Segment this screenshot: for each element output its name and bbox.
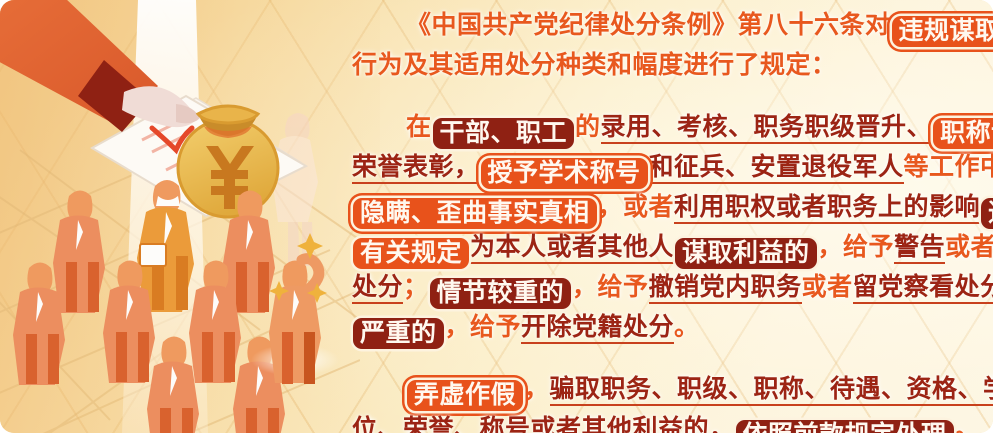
paragraph-intro: 《中国共产党纪律处分条例》第八十六条对违规谋取人事利益 行为及其适用处分种类和幅… [352,6,993,86]
text-run-underlined: 录用、考核、职务职级晋升、 [601,114,933,144]
highlight-chip-relevant-rules: 有关规定 [353,238,469,269]
text-run-plain: 或者 [802,274,853,301]
text-run-plain: 。 [674,314,700,341]
text-run-plain: ， [524,376,550,403]
text-run-plain: 。 [955,416,981,433]
text-run-plain: 在 [406,114,432,141]
highlighted-official-figure [269,259,321,384]
article-text-column: 《中国共产党纪律处分条例》第八十六条对违规谋取人事利益 行为及其适用处分种类和幅… [352,6,993,427]
text-run-underlined: 警告 [894,234,945,264]
text-run-underlined: 利用职权或者职务上的影响 [674,194,980,224]
highlight-chip-handle-per-previous-clause: 依照前款规定处理 [736,420,954,433]
text-run-underlined: 留党察看处分 [853,274,993,304]
text-run-underlined: 撤销党内职务 [649,274,802,304]
highlight-chip-title-appointment: 职称评聘 [933,118,993,149]
paragraph-clause-one: 在干部、职工的录用、考核、职务职级晋升、职称评聘、 荣誉表彰，授予学术称号和征兵… [352,108,993,348]
paragraph-clause-two: 弄虚作假，骗取职务、职级、职称、待遇、资格、学历、学 位、荣誉、称号或者其他利益… [352,370,993,433]
highlight-chip-conceal-distort: 隐瞒、歪曲事实真相 [353,198,597,229]
text-run-plain: ； [403,274,429,301]
text-run-plain: ，给予 [445,314,522,341]
text-line: 行为及其适用处分种类和幅度进行了规定： [352,46,993,86]
text-line: 弄虚作假，骗取职务、职级、职称、待遇、资格、学历、学 [352,370,993,410]
text-run-plain: 的 [575,114,601,141]
text-run-underlined: 开除党籍处分 [521,314,674,344]
text-run-plain: ，给予 [572,274,649,301]
text-run-underlined: 荣誉表彰， [352,154,480,184]
highlight-chip-cadres-staff: 干部、职工 [433,118,575,149]
text-line: 荣誉表彰，授予学术称号和征兵、安置退役军人等工作中， [352,148,993,188]
text-line: 《中国共产党纪律处分条例》第八十六条对违规谋取人事利益 [352,6,993,46]
text-run-underlined: 位、荣誉、称号或者其他利益的， [352,416,735,433]
highlight-chip-grave: 严重的 [353,318,444,349]
paragraph-spacer [352,348,993,370]
text-run-underlined: 处分 [352,274,403,304]
highlight-chip-violate: 违反 [981,198,993,229]
text-line: 位、荣誉、称号或者其他利益的，依照前款规定处理。 [352,410,993,433]
text-run-underlined: 骗取职务、职级、职称、待遇、资格、学历、学 [550,376,993,406]
text-line: 严重的，给予开除党籍处分。 [352,308,993,348]
text-run-underlined: 和征兵、安置退役军人 [649,154,904,184]
text-line: 隐瞒、歪曲事实真相，或者利用职权或者职务上的影响违反 [352,188,993,228]
text-line: 在干部、职工的录用、考核、职务职级晋升、职称评聘、 [352,108,993,148]
illustration-hand-offering-document-with-money-bag [0,0,360,433]
highlight-chip-academic-title: 授予学术称号 [481,158,648,189]
paragraph-spacer [352,86,993,108]
text-line: 有关规定为本人或者其他人谋取利益的，给予警告或者严重警告 [352,228,993,268]
text-run-plain: 等工作中， [904,154,993,181]
text-run-plain: 《中国共产党纪律处分条例》第八十六条对 [406,12,891,39]
text-run-plain: 行为及其适用处分种类和幅度进行了规定： [352,52,837,79]
highlight-chip-fraud: 弄虚作假 [407,380,523,411]
text-run-plain: 或者 [945,234,993,261]
highlight-chip-seek-benefit: 谋取利益的 [675,238,817,269]
text-line: 处分；情节较重的，给予撤销党内职务或者留党察看处分；情节 [352,268,993,308]
poster-root: 《中国共产党纪律处分条例》第八十六条对违规谋取人事利益 行为及其适用处分种类和幅… [0,0,993,433]
text-run-underlined: 为本人或者其他人 [470,234,674,264]
highlight-chip-serious-circumstances: 情节较重的 [430,278,572,309]
text-run-plain: ，或者 [598,194,675,221]
highlight-chip-violation-term: 违规谋取人事利益 [892,16,993,47]
text-run-plain: ，给予 [818,234,895,261]
